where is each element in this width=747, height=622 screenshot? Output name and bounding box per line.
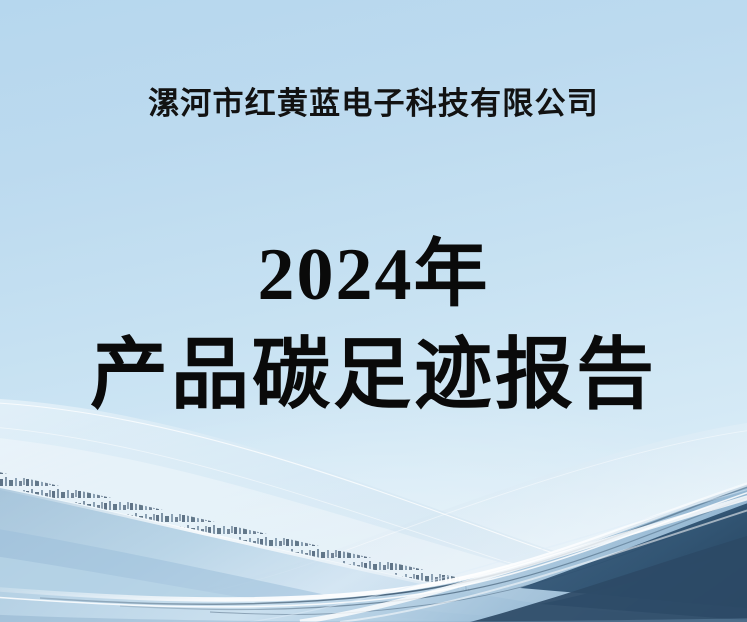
report-title-year: 2024年 (0, 214, 747, 321)
flowing-wave-ribbon-graphic (0, 392, 747, 622)
company-name: 漯河市红黄蓝电子科技有限公司 (0, 78, 747, 123)
report-cover-page: 漯河市红黄蓝电子科技有限公司 2024年 产品碳足迹报告 (0, 0, 747, 622)
